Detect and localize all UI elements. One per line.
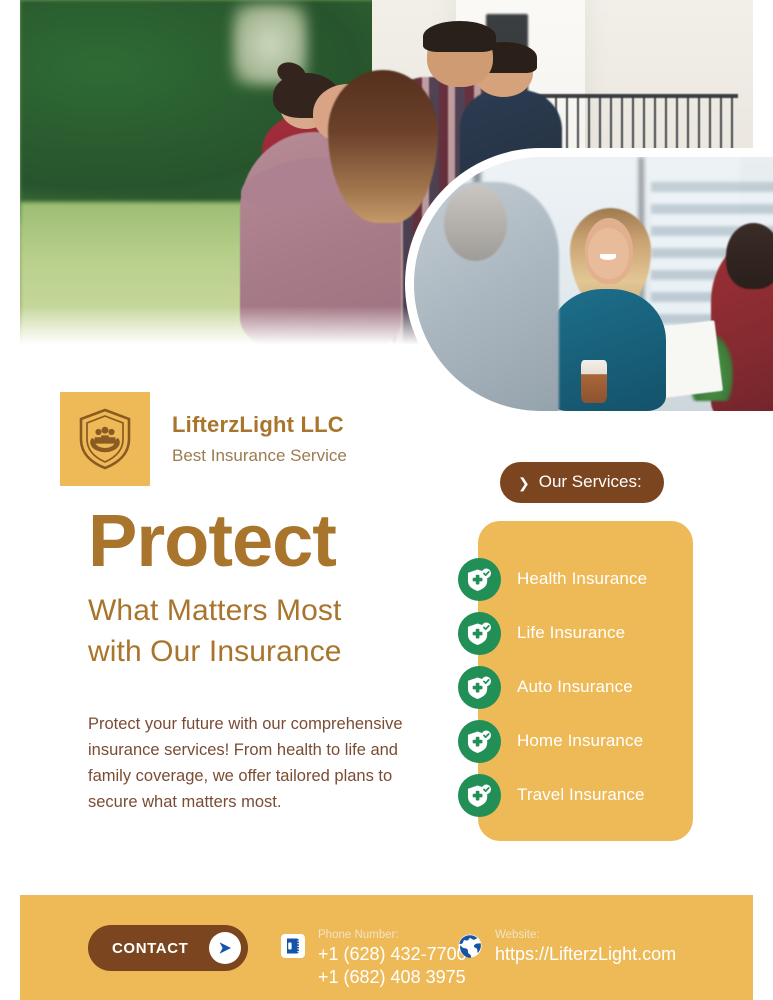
list-item[interactable]: Auto Insurance bbox=[458, 660, 718, 714]
our-services-label: Our Services: bbox=[539, 472, 642, 492]
subtitle-line-2: with Our Insurance bbox=[88, 635, 342, 668]
phone-value-2[interactable]: +1 (682) 408 3975 bbox=[318, 966, 467, 989]
service-label: Life Insurance bbox=[517, 623, 625, 643]
subtitle-line-1: What Matters Most bbox=[88, 594, 341, 627]
service-label: Health Insurance bbox=[517, 569, 647, 589]
footer-bar: CONTACT bbox=[20, 895, 753, 1000]
website-label: Website: bbox=[495, 929, 540, 941]
hero-father-hair bbox=[423, 21, 496, 52]
page-subtitle: What Matters Most with Our Insurance bbox=[88, 590, 418, 673]
shield-check-plus-icon bbox=[458, 720, 501, 763]
brand-name: LifterzLight LLC bbox=[172, 412, 347, 438]
flyer-page: LifterzLight LLC Best Insurance Service … bbox=[0, 0, 773, 1000]
website-info: Website: https://LifterzLight.com bbox=[455, 925, 676, 966]
phone-lines: Phone Number: +1 (628) 432-7700 +1 (682)… bbox=[318, 925, 467, 988]
service-label: Auto Insurance bbox=[517, 677, 633, 697]
inset-agent-photo bbox=[414, 157, 773, 411]
service-label: Travel Insurance bbox=[517, 785, 645, 805]
page-title: Protect bbox=[88, 505, 418, 576]
website-value[interactable]: https://LifterzLight.com bbox=[495, 943, 676, 966]
hero-mother-hair bbox=[328, 70, 438, 223]
brand-lockup: LifterzLight LLC Best Insurance Service bbox=[60, 392, 347, 486]
shield-check-plus-icon bbox=[458, 612, 501, 655]
inset-agent-smile bbox=[600, 254, 617, 260]
contact-button-label: CONTACT bbox=[112, 940, 188, 957]
website-lines: Website: https://LifterzLight.com bbox=[495, 925, 676, 966]
headline-block: Protect What Matters Most with Our Insur… bbox=[88, 505, 418, 673]
globe-icon bbox=[455, 931, 485, 961]
body-copy: Protect your future with our comprehensi… bbox=[88, 711, 410, 815]
our-services-badge: ❯ Our Services: bbox=[500, 462, 664, 503]
list-item[interactable]: Home Insurance bbox=[458, 714, 718, 768]
inset-client-right-head bbox=[726, 223, 773, 289]
brand-text: LifterzLight LLC Best Insurance Service bbox=[172, 412, 347, 466]
phone-value-1[interactable]: +1 (628) 432-7700 bbox=[318, 943, 467, 966]
phone-label: Phone Number: bbox=[318, 929, 399, 941]
inset-coffee-cup bbox=[581, 360, 607, 403]
play-arrow-icon bbox=[209, 932, 241, 964]
list-item[interactable]: Travel Insurance bbox=[458, 768, 718, 822]
brand-tagline: Best Insurance Service bbox=[172, 446, 347, 466]
shield-family-icon bbox=[76, 407, 134, 471]
logo-tile bbox=[60, 392, 150, 486]
chevron-right-icon: ❯ bbox=[518, 476, 530, 490]
contact-button[interactable]: CONTACT bbox=[88, 925, 248, 971]
inset-client-left-head bbox=[444, 185, 507, 261]
phone-info: Phone Number: +1 (628) 432-7700 +1 (682)… bbox=[278, 925, 467, 988]
shield-check-plus-icon bbox=[458, 774, 501, 817]
shield-check-plus-icon bbox=[458, 666, 501, 709]
list-item[interactable]: Life Insurance bbox=[458, 606, 718, 660]
inset-agent-body bbox=[548, 289, 667, 411]
services-list: Health Insurance Life Insurance bbox=[458, 552, 718, 822]
service-label: Home Insurance bbox=[517, 731, 643, 751]
phone-icon bbox=[278, 931, 308, 961]
shield-check-plus-icon bbox=[458, 558, 501, 601]
list-item[interactable]: Health Insurance bbox=[458, 552, 718, 606]
inset-photo-frame bbox=[405, 148, 773, 420]
